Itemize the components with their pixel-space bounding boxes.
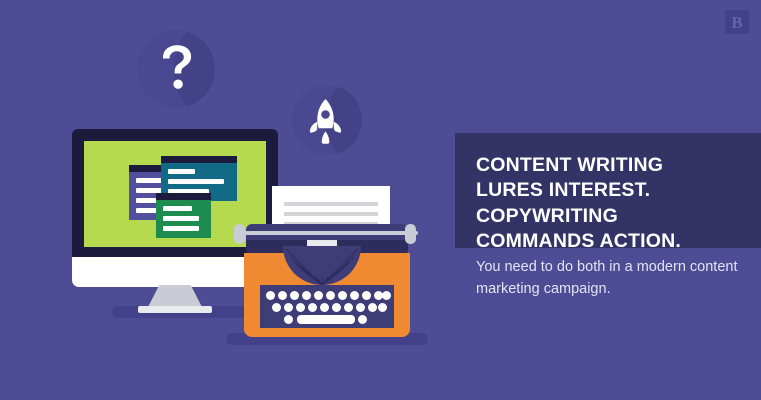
typewriter-key [378, 303, 387, 312]
typewriter-key [382, 291, 391, 300]
window-body [156, 200, 211, 238]
paper-line [284, 202, 378, 206]
typewriter-key [356, 303, 365, 312]
typewriter-rail [236, 231, 418, 235]
typewriter-key [296, 303, 305, 312]
typebar-fan-svg [283, 246, 361, 285]
question-mark-badge [137, 30, 215, 108]
text-line [163, 206, 192, 211]
rocket-icon [292, 85, 362, 155]
typewriter-key [350, 291, 359, 300]
typewriter-knob-left [234, 224, 245, 244]
text-line [168, 169, 195, 174]
typewriter-key [326, 291, 335, 300]
window-titlebar [161, 156, 237, 163]
typewriter-key [368, 303, 377, 312]
text-line [168, 179, 224, 184]
typewriter-key [290, 291, 299, 300]
typewriter-keyboard [260, 285, 394, 328]
typewriter-key [284, 303, 293, 312]
headline-panel: CONTENT WRITING LURES INTEREST. COPYWRIT… [455, 133, 761, 248]
paper-line [284, 212, 378, 216]
typewriter-key [344, 303, 353, 312]
subtitle-text: You need to do both in a modern content … [476, 256, 744, 301]
typewriter-typebar-fan [283, 246, 361, 285]
typewriter-key [278, 291, 287, 300]
typewriter-key [266, 291, 275, 300]
typewriter-key [302, 291, 311, 300]
promo-banner: B [0, 0, 761, 400]
typewriter-key [284, 315, 293, 324]
typewriter-key [358, 315, 367, 324]
monitor-foot [138, 306, 212, 313]
typewriter-key [362, 291, 371, 300]
typewriter-key [272, 303, 281, 312]
brand-logo-letter: B [731, 14, 742, 31]
rocket-badge [292, 85, 362, 155]
brand-logo: B [725, 10, 749, 34]
typewriter-key [314, 291, 323, 300]
window-card-green [156, 193, 211, 238]
page-title: CONTENT WRITING LURES INTEREST. COPYWRIT… [476, 153, 735, 254]
typewriter-key [338, 291, 347, 300]
typewriter-key [320, 303, 329, 312]
text-line [163, 226, 199, 231]
text-line [163, 216, 199, 221]
typewriter-spacebar [297, 315, 355, 324]
typewriter-key [308, 303, 317, 312]
typewriter-knob-right [405, 224, 416, 244]
window-titlebar [156, 193, 211, 200]
question-mark-icon [137, 30, 215, 108]
typewriter-key [332, 303, 341, 312]
